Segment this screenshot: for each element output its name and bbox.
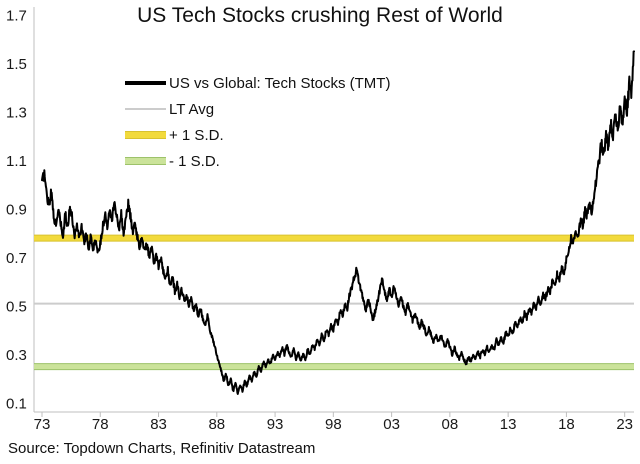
y-axis-tick-label: 0.1 <box>6 396 27 413</box>
legend-item-plus-sd[interactable]: + 1 S.D. <box>122 122 452 148</box>
x-axis-tick-labels: 7378838893980308131823 <box>34 416 633 433</box>
legend-item-minus-sd[interactable]: - 1 S.D. <box>122 148 452 174</box>
legend-label-plus-sd: + 1 S.D. <box>169 128 224 143</box>
legend-label-series: US vs Global: Tech Stocks (TMT) <box>169 76 390 91</box>
legend-swatch-minus-sd-icon <box>122 154 166 168</box>
chart-legend: US vs Global: Tech Stocks (TMT) LT Avg +… <box>122 70 452 174</box>
y-axis-tick-label: 1.5 <box>6 56 27 73</box>
y-axis-tick-label: 0.3 <box>6 347 27 364</box>
x-axis-tick-label: 83 <box>150 416 167 433</box>
legend-label-minus-sd: - 1 S.D. <box>169 154 220 169</box>
x-axis-tick-label: 03 <box>383 416 400 433</box>
x-axis-tick-label: 18 <box>558 416 575 433</box>
x-axis-tick-label: 78 <box>92 416 109 433</box>
x-axis-tick-label: 13 <box>500 416 517 433</box>
x-axis-tick-label: 23 <box>616 416 633 433</box>
legend-swatch-series-icon <box>122 76 166 90</box>
y-axis-tick-label: 0.9 <box>6 202 27 219</box>
y-axis-tick-labels: 1.71.51.31.10.90.70.50.30.1 <box>6 8 27 413</box>
legend-label-lt-avg: LT Avg <box>169 102 214 117</box>
y-axis-tick-label: 1.7 <box>6 8 27 25</box>
source-note: Source: Topdown Charts, Refinitiv Datast… <box>8 440 315 457</box>
y-axis-tick-label: 1.1 <box>6 153 27 170</box>
y-axis-tick-label: 0.7 <box>6 250 27 267</box>
x-axis-tick-label: 98 <box>325 416 342 433</box>
x-axis-tick-label: 08 <box>442 416 459 433</box>
legend-swatch-plus-sd-icon <box>122 128 166 142</box>
legend-item-lt-avg[interactable]: LT Avg <box>122 96 452 122</box>
x-axis-tick-label: 88 <box>208 416 225 433</box>
y-axis-tick-label: 1.3 <box>6 105 27 122</box>
axis-lines <box>34 7 634 417</box>
legend-swatch-lt-avg-icon <box>122 102 166 116</box>
chart-container: US Tech Stocks crushing Rest of World 1.… <box>0 0 640 464</box>
legend-item-series[interactable]: US vs Global: Tech Stocks (TMT) <box>122 70 452 96</box>
y-axis-tick-label: 0.5 <box>6 299 27 316</box>
x-axis-tick-label: 93 <box>267 416 284 433</box>
reference-lines <box>34 235 634 370</box>
x-axis-tick-label: 73 <box>34 416 51 433</box>
